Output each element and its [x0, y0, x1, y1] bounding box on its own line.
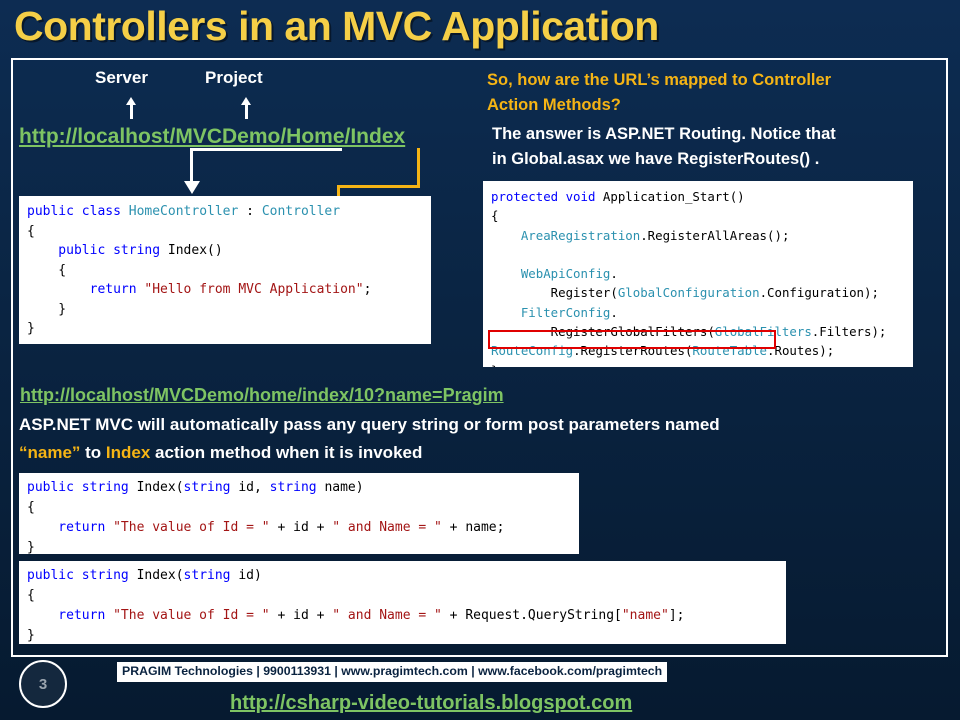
code-block-index-two-params: public string Index(string id, string na…	[19, 473, 579, 554]
code-line: WebApiConfig.	[491, 264, 913, 283]
code-line	[491, 245, 913, 264]
code-line: }	[27, 538, 579, 554]
code-line: }	[27, 626, 786, 644]
code-line: public string Index(string id, string na…	[27, 478, 579, 498]
code-block-home-controller: public class HomeController : Controller…	[19, 196, 431, 344]
mid-text-to: to	[80, 443, 106, 462]
code-line: FilterConfig.	[491, 303, 913, 322]
code-line: }	[27, 319, 431, 339]
label-project: Project	[205, 68, 263, 88]
code-line: public class HomeController : Controller	[27, 202, 431, 222]
answer-text: The answer is ASP.NET Routing. Notice th…	[492, 122, 947, 172]
answer-line-1: The answer is ASP.NET Routing. Notice th…	[492, 125, 836, 143]
label-server: Server	[95, 68, 148, 88]
code-line: return "The value of Id = " + id + " and…	[27, 606, 786, 626]
highlight-box-routeconfig	[488, 330, 776, 349]
up-arrow-icon-server	[124, 97, 138, 119]
code-line: protected void Application_Start()	[491, 187, 913, 206]
page-title: Controllers in an MVC Application	[14, 0, 944, 54]
slide-canvas: Controllers in an MVC Application Server…	[0, 0, 960, 720]
question-line-2: Action Methods?	[487, 96, 621, 114]
mid-text-name-token: “name”	[19, 443, 80, 462]
footer-credit-bar: PRAGIM Technologies | 9900113931 | www.p…	[117, 662, 667, 682]
code-line: }	[491, 361, 913, 367]
url-home-index[interactable]: http://localhost/MVCDemo/Home/Index	[19, 125, 405, 149]
question-line-1: So, how are the URL’s mapped to Controll…	[487, 71, 831, 89]
code-line: }	[27, 300, 431, 320]
code-line: {	[27, 498, 579, 518]
code-block-index-querystring: public string Index(string id){ return "…	[19, 561, 786, 644]
answer-line-2: in Global.asax we have RegisterRoutes() …	[492, 150, 819, 168]
code-line: AreaRegistration.RegisterAllAreas();	[491, 226, 913, 245]
code-line: Register(GlobalConfiguration.Configurati…	[491, 283, 913, 302]
code-line: return "Hello from MVC Application";	[27, 280, 431, 300]
footer-blog-url[interactable]: http://csharp-video-tutorials.blogspot.c…	[230, 692, 632, 715]
code-line: {	[491, 206, 913, 225]
code-line: return "The value of Id = " + id + " and…	[27, 518, 579, 538]
mid-text-tail: action method when it is invoked	[150, 443, 422, 462]
mid-text-index-token: Index	[106, 443, 150, 462]
url-with-query-string[interactable]: http://localhost/MVCDemo/home/index/10?n…	[20, 385, 504, 406]
up-arrow-icon-project	[239, 97, 253, 119]
mid-text-line-1: ASP.NET MVC will automatically pass any …	[19, 412, 929, 438]
code-line: public string Index(string id)	[27, 566, 786, 586]
code-line: {	[27, 261, 431, 281]
mid-text-line-2: “name” to Index action method when it is…	[19, 440, 929, 466]
code-line: {	[27, 586, 786, 606]
code-line: {	[27, 222, 431, 242]
question-text: So, how are the URL’s mapped to Controll…	[487, 68, 947, 118]
code-line: public string Index()	[27, 241, 431, 261]
page-number-badge: 3	[19, 660, 67, 708]
